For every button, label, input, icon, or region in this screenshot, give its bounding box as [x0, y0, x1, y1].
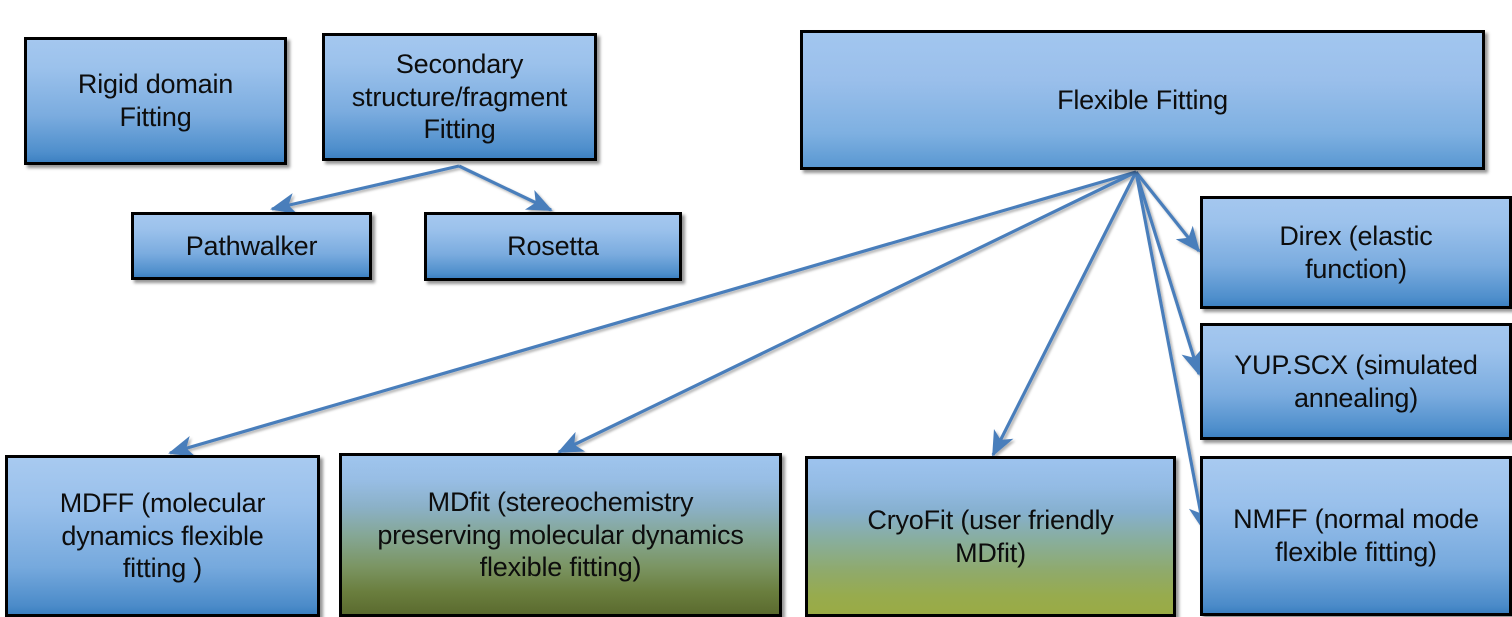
edge-secondary-to-rosetta: [459, 166, 551, 210]
edge-flexible-to-cryofit: [993, 172, 1136, 455]
edge-flexible-to-direx: [1136, 172, 1199, 251]
node-yup-scx[interactable]: YUP.SCX (simulated annealing): [1200, 323, 1512, 440]
node-label: YUP.SCX (simulated annealing): [1234, 349, 1478, 415]
node-pathwalker[interactable]: Pathwalker: [131, 212, 372, 280]
node-cryofit[interactable]: CryoFit (user friendly MDfit): [805, 456, 1176, 617]
node-rigid-domain-fitting[interactable]: Rigid domain Fitting: [24, 37, 287, 165]
node-label: NMFF (normal mode flexible fitting): [1233, 503, 1479, 569]
node-label: Pathwalker: [186, 230, 318, 263]
node-label: CryoFit (user friendly MDfit): [867, 504, 1113, 570]
diagram-canvas: Rigid domain Fitting Secondary structure…: [0, 0, 1512, 610]
node-flexible-fitting[interactable]: Flexible Fitting: [800, 30, 1485, 170]
node-label: Rosetta: [507, 230, 599, 263]
node-label: Flexible Fitting: [1057, 84, 1228, 117]
node-label: Rigid domain Fitting: [78, 68, 233, 134]
node-mdff[interactable]: MDFF (molecular dynamics flexible fittin…: [5, 455, 320, 617]
node-label: Direx (elastic function): [1279, 220, 1432, 286]
node-direx[interactable]: Direx (elastic function): [1200, 196, 1512, 309]
node-label: MDfit (stereochemistry preserving molecu…: [377, 486, 743, 585]
node-nmff[interactable]: NMFF (normal mode flexible fitting): [1200, 456, 1512, 616]
edge-secondary-to-pathwalker: [272, 166, 459, 209]
edge-flexible-to-yupscx: [1136, 172, 1199, 374]
node-label: Secondary structure/fragment Fitting: [352, 48, 568, 147]
node-label: MDFF (molecular dynamics flexible fittin…: [60, 487, 266, 586]
node-mdfit[interactable]: MDfit (stereochemistry preserving molecu…: [339, 453, 782, 617]
node-rosetta[interactable]: Rosetta: [424, 212, 682, 281]
node-secondary-structure-fragment-fitting[interactable]: Secondary structure/fragment Fitting: [322, 33, 597, 161]
